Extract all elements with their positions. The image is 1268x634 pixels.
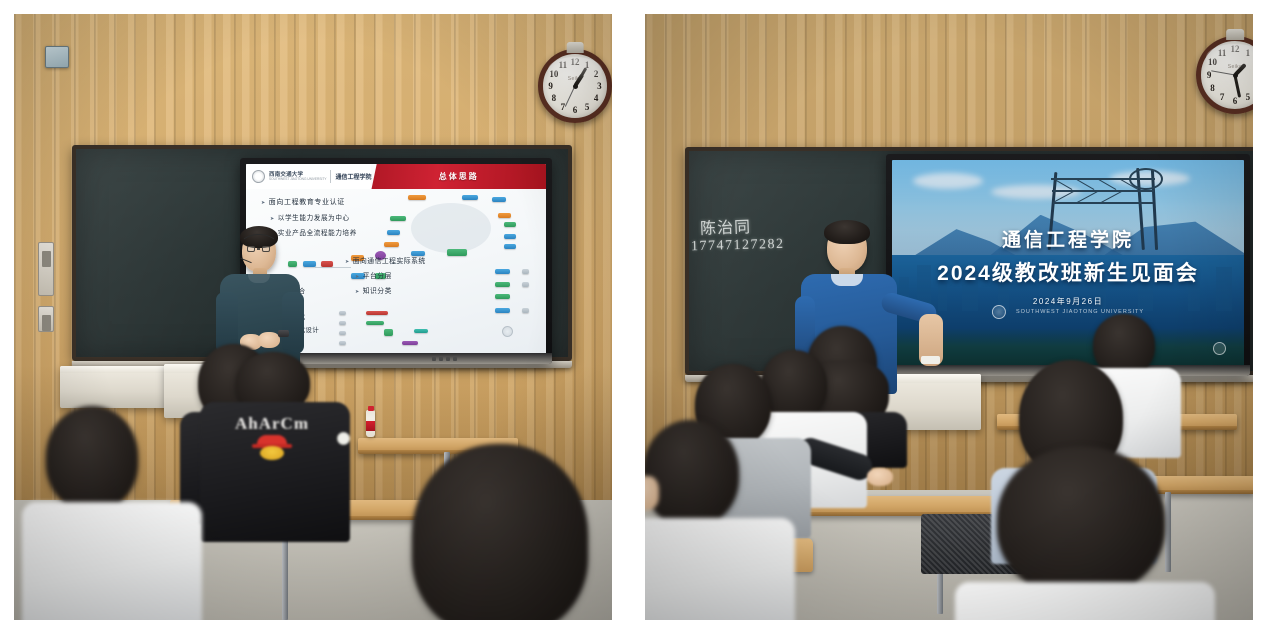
wall-switch-icon: [38, 306, 54, 332]
clock-second-hand: [1211, 70, 1235, 75]
clock-center-pin: [573, 84, 578, 89]
university-name-en: SOUTHWEST JIAOTONG UNIVERSITY: [269, 178, 326, 182]
diagram-node: [495, 282, 510, 287]
clock-minute-hand: [1234, 75, 1241, 97]
bullet-item: 以学生能力发展为中心: [261, 212, 387, 222]
diagram-node: [366, 321, 384, 325]
clock-num-10: 10: [549, 69, 558, 79]
diagram-node: [366, 311, 388, 315]
diagram-cloud: [411, 203, 491, 253]
department-name: 通信工程学院: [335, 172, 371, 181]
slide-title-text: 总体思路: [439, 171, 479, 182]
clock-num-4: 4: [594, 93, 599, 103]
diagram-node: [522, 308, 529, 313]
wall-intercom-icon: [38, 242, 54, 296]
diagram-node: [384, 242, 399, 247]
presentation-slide-right: 通信工程学院 2024级教改班新生见面会 2024年9月26日 SOUTHWES…: [892, 160, 1244, 370]
headset-mic-icon: [239, 234, 279, 260]
clock-num-8: 8: [1210, 83, 1215, 93]
speaker-hair: [824, 220, 870, 244]
diagram-node: [498, 213, 511, 218]
screen-button-icon[interactable]: [446, 357, 450, 361]
wristband-icon: [921, 356, 940, 364]
clock-num-3: 3: [597, 81, 602, 91]
slide-title-line2: 2024级教改班新生见面会: [892, 257, 1244, 287]
photo-right[interactable]: Seiko 12 1 2 3 4 5 6 7 8 9 10 11 陈治同 177…: [645, 14, 1253, 620]
slide-watermark-icon: [502, 326, 513, 337]
student-head: [412, 444, 588, 620]
blackboard-handwriting-name: 陈治同: [700, 213, 752, 239]
student-torso: [955, 582, 1215, 620]
bullet-item: 平台分层: [345, 270, 465, 280]
photo-left[interactable]: Seiko 12 1 2 3 4 5 6 7 8 9 10 11: [14, 14, 612, 620]
diagram-node: [402, 341, 418, 345]
student-black-tshirt: AhArCm: [200, 352, 350, 542]
clock-num-8: 8: [552, 93, 557, 103]
diagram-node: [390, 216, 406, 221]
slide-title-banner: 总体思路: [371, 164, 546, 189]
clock-num-12: 12: [571, 57, 580, 67]
logo-divider: [330, 170, 331, 183]
bullet-item: 面向通信工程实际系统: [345, 255, 465, 265]
university-name: 西南交通大学 SOUTHWEST JIAOTONG UNIVERSITY: [269, 172, 326, 182]
screen-button-icon[interactable]: [453, 357, 457, 361]
diagram-node: [504, 234, 516, 239]
diagram-node: [495, 308, 510, 313]
clock-num-5: 5: [1246, 92, 1251, 102]
diagram-node: [414, 329, 428, 333]
student-torso: [645, 518, 795, 620]
clock-second-hand: [565, 86, 576, 107]
diagram-node: [504, 222, 516, 227]
diagram-node: [492, 197, 506, 202]
clock-num-9: 9: [548, 81, 553, 91]
clock-num-6: 6: [1233, 96, 1238, 106]
student-torso: [200, 402, 350, 542]
student-foreground-left: [645, 420, 779, 620]
clock-num-2: 2: [594, 69, 599, 79]
diagram-node: [408, 195, 426, 200]
wall-vent-icon: [45, 46, 69, 68]
student-head: [997, 446, 1165, 596]
clock-num-7: 7: [561, 102, 566, 112]
student-head: [46, 406, 138, 510]
clock-num-5: 5: [585, 102, 590, 112]
diagram-node: [387, 230, 400, 235]
wall-clock-left: Seiko 12 1 2 3 4 5 6 7 8 9 10 11: [538, 49, 612, 123]
diagram-node: [384, 329, 393, 336]
university-seal-icon: [252, 170, 265, 183]
student-foreground-right: [975, 446, 1205, 620]
clock-num-11: 11: [559, 60, 568, 70]
bottle-cap: [368, 406, 374, 411]
clock-num-12: 12: [1231, 44, 1240, 54]
university-seal-icon: [992, 305, 1006, 319]
slide-surface-right[interactable]: 通信工程学院 2024级教改班新生见面会 2024年9月26日 SOUTHWES…: [892, 160, 1244, 370]
student-foreground-right: [384, 444, 612, 620]
student-torso: [22, 502, 202, 620]
diagram-node: [504, 244, 516, 249]
clock-num-6: 6: [573, 105, 578, 115]
clock-num-10: 10: [1208, 57, 1217, 67]
clock-center-pin: [1233, 73, 1238, 78]
slide-bullets-secondary: 面向通信工程实际系统 平台分层 知识分类: [345, 255, 465, 295]
bullet-item: 面向工程教育专业认证: [261, 197, 387, 207]
slide-footer-logos: SOUTHWEST JIAOTONG UNIVERSITY: [992, 305, 1144, 319]
diagram-node: [462, 195, 478, 200]
clock-mount: [1226, 29, 1244, 40]
bullet-item: 知识分类: [345, 285, 465, 295]
student-hand: [867, 468, 893, 486]
clock-num-11: 11: [1218, 48, 1227, 58]
student-head: [645, 420, 739, 526]
screen-button-icon[interactable]: [432, 357, 436, 361]
bottle-label: [366, 421, 375, 431]
slide-title-group: 通信工程学院 2024级教改班新生见面会 2024年9月26日: [892, 225, 1244, 307]
photo-collage-sheet: Seiko 12 1 2 3 4 5 6 7 8 9 10 11: [0, 0, 1268, 634]
clock-num-7: 7: [1220, 92, 1225, 102]
diagram-node: [522, 269, 529, 274]
slide-logo-group: 西南交通大学 SOUTHWEST JIAOTONG UNIVERSITY 通信工…: [246, 164, 371, 189]
screen-button-row[interactable]: [432, 356, 502, 362]
diagram-node: [495, 294, 510, 299]
water-bottle: [366, 410, 375, 437]
wristwatch-icon: [278, 330, 289, 337]
student-white-shirt: [32, 406, 192, 620]
slide-title-line1: 通信工程学院: [892, 225, 1244, 252]
diagram-node: [495, 269, 510, 274]
slide-header-bar: 西南交通大学 SOUTHWEST JIAOTONG UNIVERSITY 通信工…: [246, 164, 546, 189]
polo-collar: [831, 274, 863, 286]
diagram-node: [522, 282, 529, 287]
clock-num-1: 1: [1246, 48, 1251, 58]
slide-footer-wordmark: SOUTHWEST JIAOTONG UNIVERSITY: [1016, 309, 1144, 315]
screen-button-icon[interactable]: [439, 357, 443, 361]
diagram-node: [339, 341, 346, 345]
clock-mount: [567, 42, 584, 53]
blackboard-handwriting-phone: 17747127282: [691, 237, 785, 255]
clock-num-9: 9: [1207, 70, 1212, 80]
